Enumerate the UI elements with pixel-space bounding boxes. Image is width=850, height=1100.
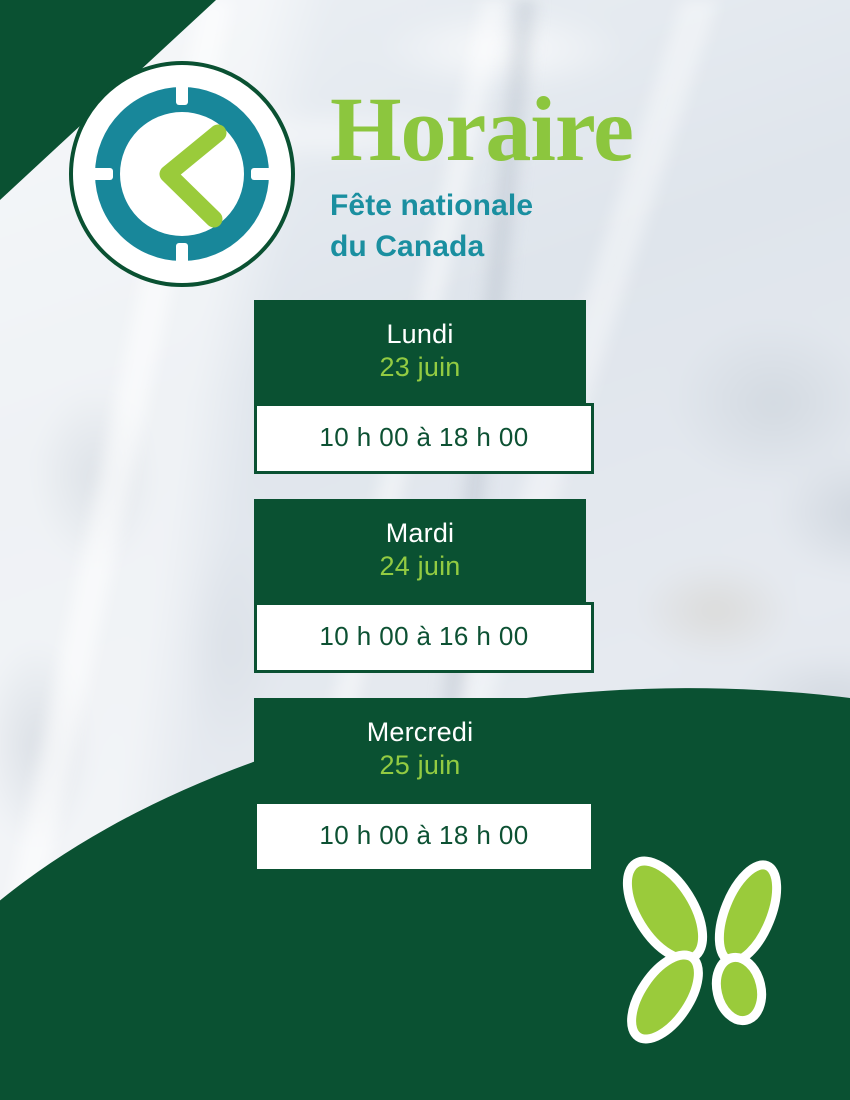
schedule-day: Mardi (254, 517, 586, 550)
schedule-hours-box: 10 h 00 à 18 h 00 (254, 801, 594, 872)
schedule-day: Lundi (254, 318, 586, 351)
schedule-card-header: Mardi 24 juin (254, 499, 586, 603)
schedule-day: Mercredi (254, 716, 586, 749)
page-title: Horaire (330, 84, 750, 174)
schedule-hours-box: 10 h 00 à 16 h 00 (254, 602, 594, 673)
page-subtitle: Fête nationale du Canada (330, 186, 750, 267)
subtitle-line-1: Fête nationale (330, 186, 750, 227)
heading-block: Horaire Fête nationale du Canada (330, 84, 750, 267)
schedule-hours: 10 h 00 à 16 h 00 (257, 621, 591, 652)
schedule-list: Lundi 23 juin 10 h 00 à 18 h 00 Mardi 24… (254, 300, 594, 897)
schedule-card: Mardi 24 juin 10 h 00 à 16 h 00 (254, 499, 594, 673)
schedule-card-header: Lundi 23 juin (254, 300, 586, 404)
subtitle-line-2: du Canada (330, 227, 750, 268)
schedule-hours-box: 10 h 00 à 18 h 00 (254, 403, 594, 474)
butterfly-logo-icon (615, 855, 800, 1050)
schedule-poster: Horaire Fête nationale du Canada Lundi 2… (0, 0, 850, 1100)
clock-icon (68, 60, 296, 288)
schedule-hours: 10 h 00 à 18 h 00 (257, 820, 591, 851)
schedule-date: 24 juin (254, 550, 586, 583)
schedule-card: Mercredi 25 juin 10 h 00 à 18 h 00 (254, 698, 594, 872)
schedule-date: 23 juin (254, 351, 586, 384)
schedule-card: Lundi 23 juin 10 h 00 à 18 h 00 (254, 300, 594, 474)
schedule-hours: 10 h 00 à 18 h 00 (257, 422, 591, 453)
schedule-date: 25 juin (254, 749, 586, 782)
schedule-card-header: Mercredi 25 juin (254, 698, 586, 802)
